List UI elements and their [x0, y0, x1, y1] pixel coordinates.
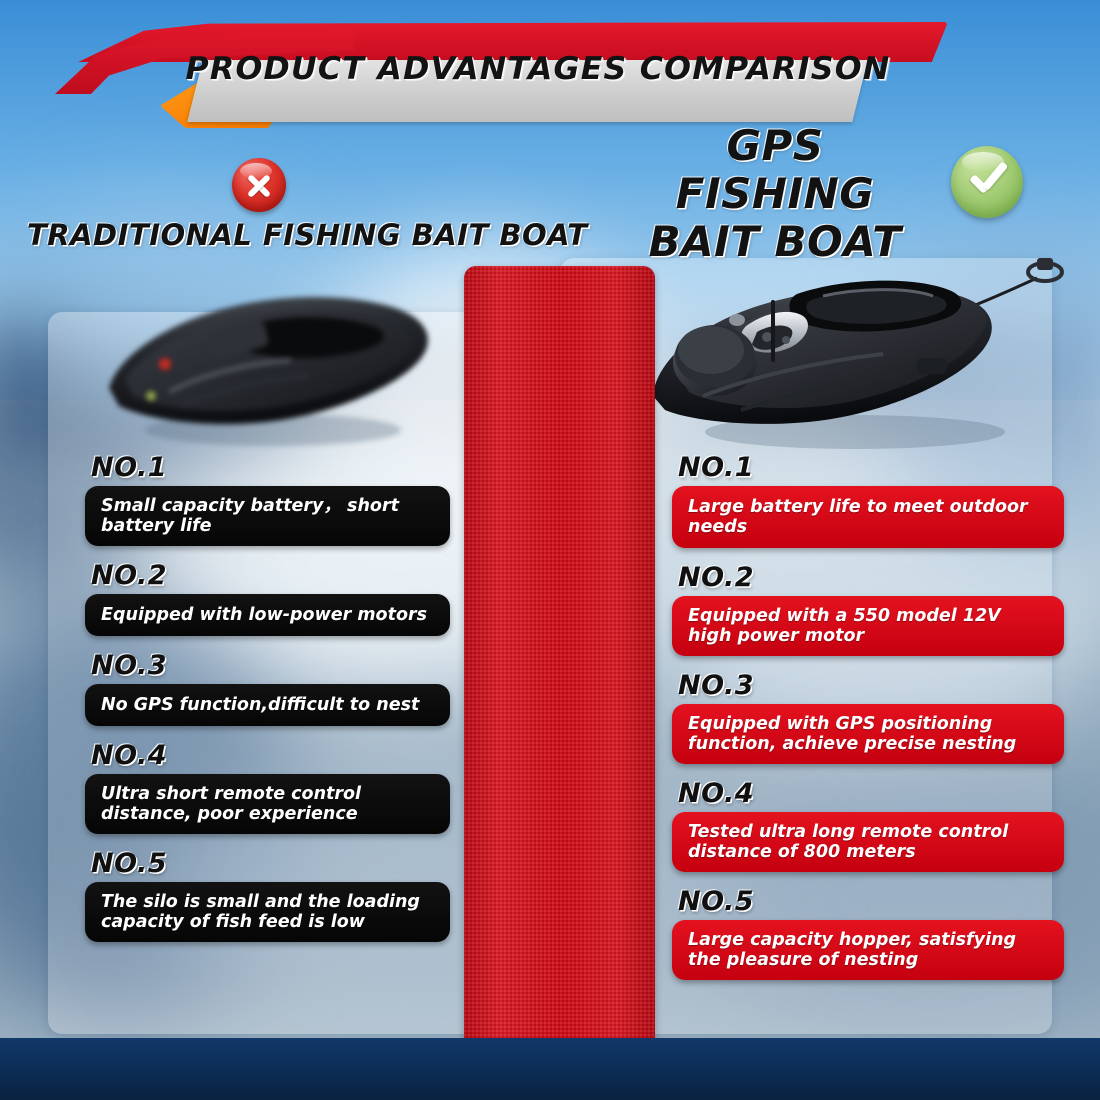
- item-text: Equipped with a 550 model 12V high power…: [672, 596, 1064, 656]
- list-item: NO.1 Large battery life to meet outdoor …: [672, 452, 1064, 548]
- list-item: NO.1 Small capacity battery， short batte…: [85, 452, 450, 546]
- item-text: Equipped with low-power motors: [85, 594, 450, 636]
- item-text: Ultra short remote control distance, poo…: [85, 774, 450, 834]
- item-number: NO.3: [91, 650, 450, 681]
- list-item: NO.5 Large capacity hopper, satisfying t…: [672, 886, 1064, 980]
- traditional-bait-boat-photo: [95, 268, 445, 458]
- list-item: NO.5 The silo is small and the loading c…: [85, 848, 450, 942]
- page-title: PRODUCT ADVANTAGES COMPARISON: [212, 43, 865, 95]
- item-number: NO.4: [678, 778, 1064, 809]
- right-heading-line1: GPS FISHING: [676, 121, 874, 218]
- list-item: NO.4 Tested ultra long remote control di…: [672, 778, 1064, 872]
- item-number: NO.3: [678, 670, 1064, 701]
- item-text: No GPS function,difficult to nest: [85, 684, 450, 726]
- list-item: NO.3 No GPS function,difficult to nest: [85, 650, 450, 726]
- item-text: Large capacity hopper, satisfying the pl…: [672, 920, 1064, 980]
- infographic-canvas: PRODUCT ADVANTAGES COMPARISON TRADITIONA…: [0, 0, 1100, 1100]
- item-text: Large battery life to meet outdoor needs: [672, 486, 1064, 548]
- list-item: NO.4 Ultra short remote control distance…: [85, 740, 450, 834]
- item-number: NO.1: [678, 452, 1064, 483]
- list-item: NO.3 Equipped with GPS positioning funct…: [672, 670, 1064, 764]
- item-number: NO.1: [91, 452, 450, 483]
- list-item: NO.2 Equipped with low-power motors: [85, 560, 450, 636]
- left-feature-list: NO.1 Small capacity battery， short batte…: [85, 452, 450, 956]
- left-column-heading: TRADITIONAL FISHING BAIT BOAT: [27, 218, 588, 252]
- item-text: Small capacity battery， short battery li…: [85, 486, 450, 546]
- item-number: NO.5: [91, 848, 450, 879]
- red-woven-texture-divider: [464, 266, 655, 1048]
- item-number: NO.4: [91, 740, 450, 771]
- check-mark-icon: [951, 146, 1023, 218]
- right-feature-list: NO.1 Large battery life to meet outdoor …: [672, 452, 1064, 994]
- x-cross-icon: [232, 158, 286, 212]
- item-text: Equipped with GPS positioning function, …: [672, 704, 1064, 764]
- item-number: NO.5: [678, 886, 1064, 917]
- gps-bait-boat-photo: [645, 228, 1065, 458]
- item-number: NO.2: [678, 562, 1064, 593]
- item-text: Tested ultra long remote control distanc…: [672, 812, 1064, 872]
- item-number: NO.2: [91, 560, 450, 591]
- list-item: NO.2 Equipped with a 550 model 12V high …: [672, 562, 1064, 656]
- item-text: The silo is small and the loading capaci…: [85, 882, 450, 942]
